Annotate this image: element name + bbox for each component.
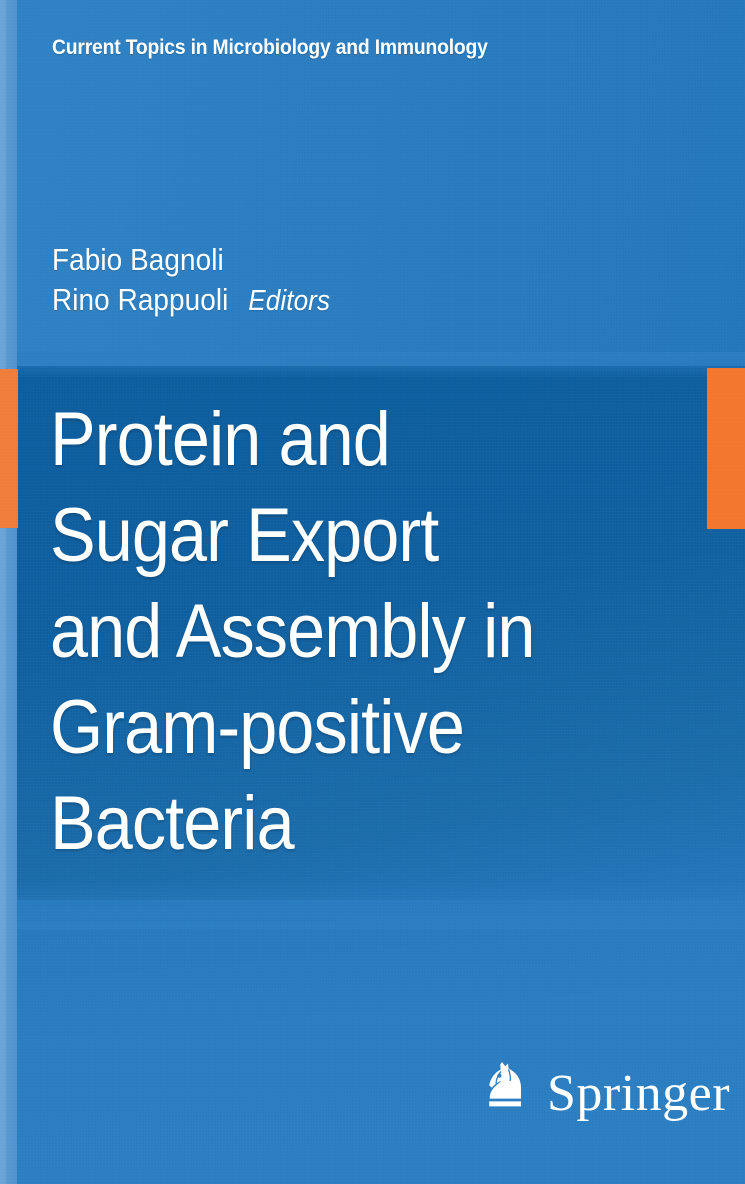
- series-title: Current Topics in Microbiology and Immun…: [52, 36, 641, 60]
- background-band-bottom: [0, 900, 745, 1184]
- book-cover: Current Topics in Microbiology and Immun…: [0, 0, 745, 1184]
- springer-knight-icon: [477, 1060, 535, 1124]
- page-edge-strip: [0, 0, 17, 1184]
- page-edge-highlight: [0, 0, 6, 1184]
- editors-block: Fabio Bagnoli Rino RappuoliEditors: [52, 240, 361, 321]
- title-line-5: Bacteria: [50, 776, 644, 872]
- title-line-1: Protein and: [50, 392, 644, 488]
- editors-role-label: Editors: [228, 285, 330, 317]
- editor-name-second: Rino RappuoliEditors: [52, 280, 330, 321]
- editor-name-first: Fabio Bagnoli: [52, 240, 330, 280]
- page-title: Protein and Sugar Export and Assembly in…: [50, 392, 710, 872]
- publisher-logo: Springer: [477, 1060, 730, 1124]
- accent-bar-left: [0, 369, 18, 528]
- title-line-4: Gram-positive: [50, 680, 644, 776]
- publisher-name: Springer: [547, 1068, 730, 1120]
- editor-name-first-text: Fabio Bagnoli: [52, 242, 224, 277]
- editor-name-second-text: Rino Rappuoli: [52, 282, 228, 317]
- title-line-3: and Assembly in: [50, 584, 644, 680]
- title-line-2: Sugar Export: [50, 488, 644, 584]
- accent-bar-right: [707, 368, 745, 529]
